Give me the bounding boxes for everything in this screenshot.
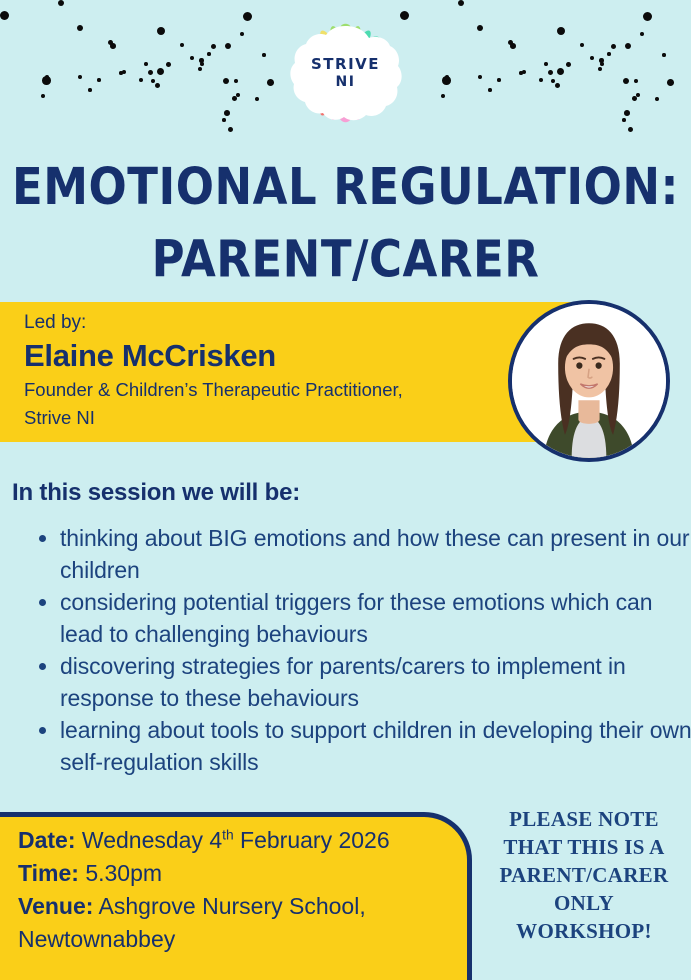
decorative-dot [166,62,171,67]
decorative-dot [232,96,237,101]
decorative-dot [478,75,482,79]
decorative-dot [151,79,155,83]
decorative-dot [624,110,630,116]
decorative-dot [139,78,143,82]
decorative-dot [222,118,226,122]
decorative-dot [636,93,640,97]
decorative-dot [144,62,148,66]
decorative-dot [442,76,451,85]
decorative-dot [590,56,594,60]
decorative-dot [225,43,231,49]
event-details: Date: Wednesday 4th February 2026 Time: … [18,824,458,956]
date-ordinal: th [222,827,234,842]
decorative-dot [157,27,165,35]
decorative-dot [119,71,123,75]
decorative-dot [41,94,45,98]
decorative-dot [643,12,652,21]
time-label: Time: [18,860,79,886]
decorative-dot [623,78,629,84]
list-item: learning about tools to support children… [60,714,691,778]
session-bullet-list: thinking about BIG emotions and how thes… [30,522,691,778]
detail-date-row: Date: Wednesday 4th February 2026 [18,824,458,857]
decorative-dot [640,32,644,36]
decorative-dot [667,79,674,86]
decorative-dot [611,44,616,49]
decorative-dot [445,75,449,79]
date-value-pre: Wednesday 4 [82,827,222,853]
decorative-dot [155,83,160,88]
detail-time-row: Time: 5.30pm [18,857,458,890]
decorative-dot [224,110,230,116]
decorative-dot [262,53,266,57]
decorative-dot [77,25,83,31]
portrait-illustration [512,304,666,458]
time-value: 5.30pm [85,860,162,886]
decorative-dot [42,76,51,85]
decorative-dot [519,71,523,75]
decorative-dot [539,78,543,82]
page-title-line-1: Emotional Regulation: [12,157,679,216]
decorative-dot [267,79,274,86]
decorative-dot [148,70,153,75]
notice-line-5: WORKSHOP! [484,917,684,945]
decorative-dot [234,79,238,83]
decorative-dot [200,62,204,66]
decorative-dot [58,0,64,6]
decorative-dot [508,40,513,45]
poster-root: STRIVE NI Emotional Regulation: Parent/C… [0,0,691,980]
decorative-dot [190,56,194,60]
decorative-dot [223,78,229,84]
decorative-dot [628,127,633,132]
decorative-dot [88,88,92,92]
decorative-dot [557,68,564,75]
decorative-dot [458,0,464,6]
speaker-details: Led by: Elaine McCrisken Founder & Child… [24,310,514,431]
notice-text: PLEASE NOTE THAT THIS IS A PARENT/CARER … [484,805,684,945]
decorative-dot [0,11,9,20]
decorative-dot [122,70,126,74]
decorative-dot [477,25,483,31]
speaker-role-line-1: Founder & Children’s Therapeutic Practit… [24,376,514,404]
decorative-dot [211,44,216,49]
decorative-dot [622,118,626,122]
decorative-dot [634,79,638,83]
list-item: considering potential triggers for these… [60,586,691,650]
notice-line-1: PLEASE NOTE [484,805,684,833]
decorative-dot [199,58,204,63]
decorative-dot [522,70,526,74]
decorative-dot [207,52,211,56]
decorative-dot [243,12,252,21]
decorative-dot [548,70,553,75]
decorative-dot [600,62,604,66]
date-value-post: February 2026 [234,827,390,853]
decorative-dot [551,79,555,83]
decorative-dot [598,67,602,71]
speaker-name: Elaine McCrisken [24,336,514,376]
decorative-dot [110,43,116,49]
decorative-dot [240,32,244,36]
decorative-dot [607,52,611,56]
notice-line-2: THAT THIS IS A [484,833,684,861]
decorative-dot [599,58,604,63]
decorative-dot [580,43,584,47]
decorative-dot [236,93,240,97]
logo-line-1: STRIVE [311,56,380,73]
decorative-dot [441,94,445,98]
decorative-dot [97,78,101,82]
notice-line-4: ONLY [484,889,684,917]
decorative-dot [555,83,560,88]
decorative-dot [625,43,631,49]
avatar [508,300,670,462]
decorative-dot [157,68,164,75]
strive-ni-logo: STRIVE NI [277,8,414,138]
decorative-dot [198,67,202,71]
detail-venue-row: Venue: Ashgrove Nursery School, Newtowna… [18,890,458,956]
decorative-dot [497,78,501,82]
notice-line-3: PARENT/CARER [484,861,684,889]
decorative-dot [255,97,259,101]
list-item: discovering strategies for parents/carer… [60,650,691,714]
decorative-dot [655,97,659,101]
date-label: Date: [18,827,76,853]
speaker-role-line-2: Strive NI [24,404,514,432]
decorative-dot [566,62,571,67]
decorative-dot [557,27,565,35]
decorative-dot [510,43,516,49]
decorative-dot [632,96,637,101]
decorative-dot [78,75,82,79]
decorative-dot [108,40,113,45]
session-heading: In this session we will be: [12,479,300,507]
decorative-dot [544,62,548,66]
decorative-dot [228,127,233,132]
logo-text: STRIVE NI [300,30,391,116]
decorative-dot [488,88,492,92]
list-item: thinking about BIG emotions and how thes… [60,522,691,586]
decorative-dot [45,75,49,79]
decorative-dot [662,53,666,57]
logo-line-2: NI [336,74,356,90]
led-by-label: Led by: [24,310,514,336]
decorative-dot [180,43,184,47]
venue-label: Venue: [18,893,93,919]
